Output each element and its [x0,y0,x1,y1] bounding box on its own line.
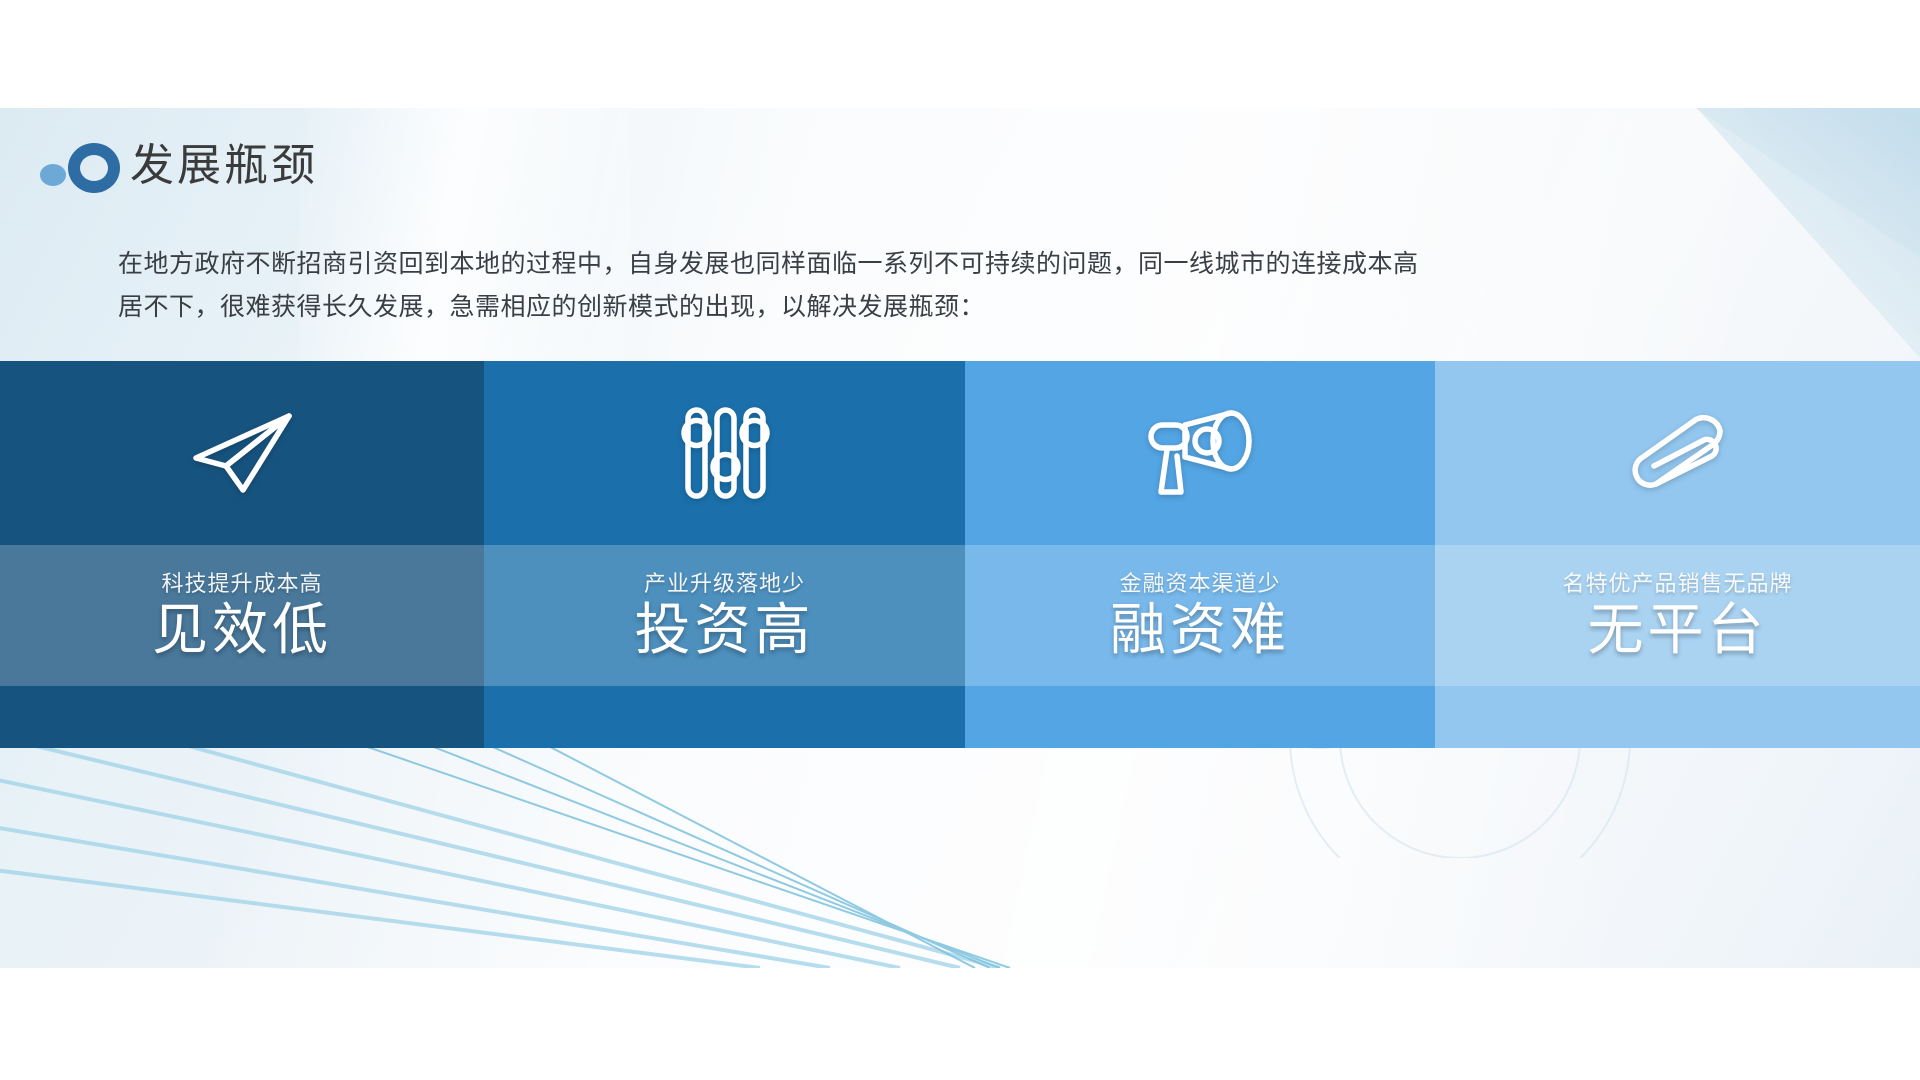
logo-dot-icon [40,164,66,186]
paperclip-icon [1627,411,1729,495]
panel-1-icon-area [0,361,484,545]
bottleneck-panel-3[interactable]: 金融资本渠道少 融资难 [965,361,1435,748]
panel-3-icon-area [965,361,1435,545]
slide-header: 发展瓶颈 [40,138,318,194]
panel-1-label-band: 科技提升成本高 见效低 [0,545,484,686]
bottleneck-panel-2[interactable]: 产业升级落地少 投资高 [484,361,965,748]
panel-2-icon-area [484,361,965,545]
panel-4-label-band: 名特优产品销售无品牌 无平台 [1435,545,1920,686]
panel-4-sub-label: 名特优产品销售无品牌 [1562,572,1792,596]
panel-2-label-band: 产业升级落地少 投资高 [484,545,965,686]
slide-canvas: 发展瓶颈 在地方政府不断招商引资回到本地的过程中，自身发展也同样面临一系列不可持… [0,108,1920,968]
panel-3-main-label: 融资难 [1110,601,1290,660]
intro-line-1: 在地方政府不断招商引资回到本地的过程中，自身发展也同样面临一系列不可持续的问题，… [118,243,1478,286]
top-right-wedge-decoration [1560,108,1920,358]
panel-4-icon-area [1435,361,1920,545]
intro-line-2: 居不下，很难获得长久发展，急需相应的创新模式的出现，以解决发展瓶颈： [118,286,1478,329]
panel-3-label-band: 金融资本渠道少 融资难 [965,545,1435,686]
panel-3-sub-label: 金融资本渠道少 [1119,572,1280,596]
paper-plane-icon [188,408,296,498]
panel-2-main-label: 投资高 [635,601,815,660]
panel-2-sub-label: 产业升级落地少 [644,572,805,596]
panel-4-main-label: 无平台 [1588,601,1768,660]
top-right-wedge-decoration-secondary [1670,108,1920,258]
panel-1-sub-label: 科技提升成本高 [161,572,322,596]
intro-paragraph: 在地方政府不断招商引资回到本地的过程中，自身发展也同样面临一系列不可持续的问题，… [118,243,1478,329]
megaphone-icon [1145,410,1255,496]
bottleneck-panel-4[interactable]: 名特优产品销售无品牌 无平台 [1435,361,1920,748]
panel-1-main-label: 见效低 [152,601,332,660]
bottleneck-panel-group: 科技提升成本高 见效低 产业升级落地少 [0,361,1920,748]
sliders-icon [676,405,774,501]
page-title: 发展瓶颈 [130,144,318,188]
logo-ring-icon [68,143,120,193]
bottleneck-panel-1[interactable]: 科技提升成本高 见效低 [0,361,484,748]
logo-icon [40,138,130,194]
